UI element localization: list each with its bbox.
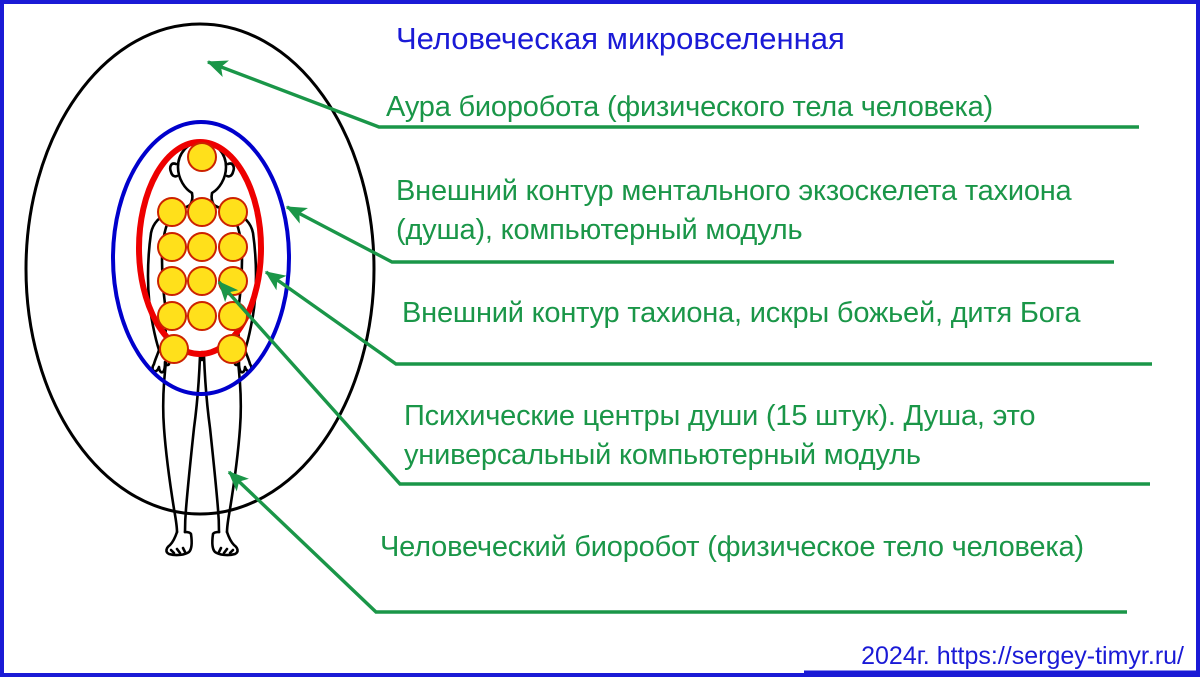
psychic-centers-group xyxy=(158,143,247,363)
psychic-center xyxy=(158,267,186,295)
annotation-mental-outer: Внешний контур ментального экзоскелета т… xyxy=(396,172,1136,250)
psychic-center xyxy=(188,198,216,226)
diagram-page: Человеческая микровселенная Аура биоробо… xyxy=(0,0,1200,677)
psychic-center xyxy=(188,302,216,330)
psychic-center xyxy=(188,267,216,295)
psychic-center xyxy=(219,233,247,261)
psychic-center xyxy=(188,143,216,171)
annotation-aura: Аура биоробота (физического тела человек… xyxy=(386,88,1086,127)
psychic-center xyxy=(158,198,186,226)
psychic-center xyxy=(188,233,216,261)
psychic-center xyxy=(160,335,188,363)
annotation-biorobot: Человеческий биоробот (физическое тело ч… xyxy=(380,528,1140,567)
annotation-psy-centers: Психические центры души (15 штук). Душа,… xyxy=(404,397,1164,475)
page-title: Человеческая микровселенная xyxy=(396,20,1036,58)
psychic-center xyxy=(219,198,247,226)
psychic-center xyxy=(158,233,186,261)
psychic-center xyxy=(158,302,186,330)
psychic-center xyxy=(218,335,246,363)
psychic-center xyxy=(219,267,247,295)
footer-credit: 2024г. https://sergey-timyr.ru/ xyxy=(704,641,1184,671)
annotation-tachyon-outer: Внешний контур тахиона, искры божьей, ди… xyxy=(402,294,1162,333)
